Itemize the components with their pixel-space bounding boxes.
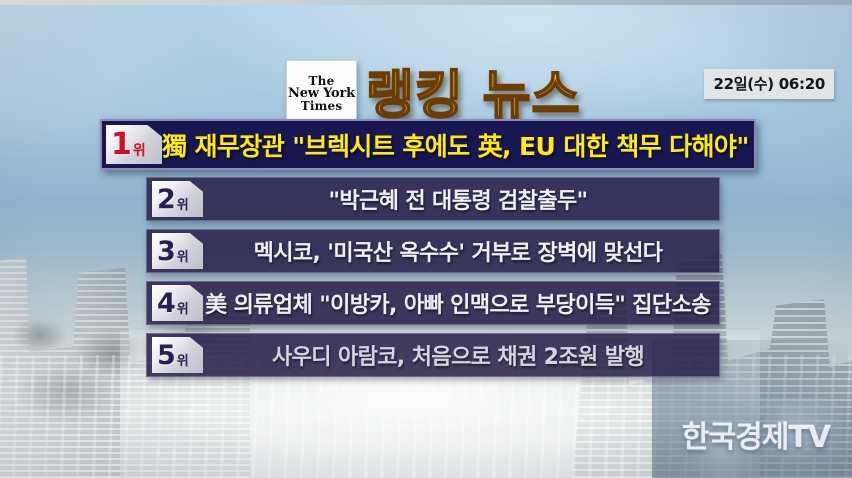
rank-badge-2: 2 위 bbox=[152, 181, 203, 217]
station-logo: 한국경제TV bbox=[682, 412, 830, 456]
ranking-row-5[interactable]: 5 위 사우디 아람코, 처음으로 채권 2조원 발행 bbox=[146, 333, 720, 377]
rank-number-3: 3 bbox=[157, 238, 176, 265]
rank-number-1: 1 bbox=[111, 130, 132, 160]
ranking-row-3[interactable]: 3 위 멕시코, '미국산 옥수수' 거부로 장벽에 맞선다 bbox=[146, 229, 720, 273]
rank-unit-2: 위 bbox=[177, 194, 189, 213]
rank-unit-1: 위 bbox=[133, 140, 146, 160]
ranking-row-4[interactable]: 4 위 美 의류업체 "이방카, 아빠 인맥으로 부당이득" 집단소송 bbox=[146, 281, 720, 325]
rank-badge-5: 5 위 bbox=[152, 337, 203, 373]
rank-number-5: 5 bbox=[157, 342, 176, 369]
rank-badge-4: 4 위 bbox=[152, 285, 203, 321]
ranking-headline-1: 獨 재무장관 "브렉시트 후에도 英, EU 대한 책무 다해야" bbox=[162, 127, 755, 163]
rank-number-4: 4 bbox=[157, 290, 176, 317]
ranking-headline-5: 사우디 아람코, 처음으로 채권 2조원 발행 bbox=[203, 339, 719, 371]
ranking-headline-4: 美 의류업체 "이방카, 아빠 인맥으로 부당이득" 집단소송 bbox=[203, 287, 719, 319]
rank-unit-5: 위 bbox=[177, 350, 189, 369]
rank-unit-4: 위 bbox=[177, 298, 189, 317]
broadcast-screen: The New York Times 랭킹 뉴스 22일(수) 06:20 1 … bbox=[0, 0, 852, 478]
ranking-row-1[interactable]: 1 위 獨 재무장관 "브렉시트 후에도 英, EU 대한 책무 다해야" bbox=[100, 119, 756, 170]
rank-badge-3: 3 위 bbox=[152, 233, 203, 269]
ranking-list: 1 위 獨 재무장관 "브렉시트 후에도 英, EU 대한 책무 다해야" 2 … bbox=[0, 0, 852, 478]
ranking-row-2[interactable]: 2 위 "박근혜 전 대통령 검찰출두" bbox=[146, 177, 720, 221]
rank-badge-1: 1 위 bbox=[106, 125, 162, 164]
ranking-headline-3: 멕시코, '미국산 옥수수' 거부로 장벽에 맞선다 bbox=[203, 235, 719, 267]
rank-unit-3: 위 bbox=[177, 246, 189, 265]
ranking-headline-2: "박근혜 전 대통령 검찰출두" bbox=[203, 183, 719, 215]
rank-number-2: 2 bbox=[157, 186, 176, 213]
